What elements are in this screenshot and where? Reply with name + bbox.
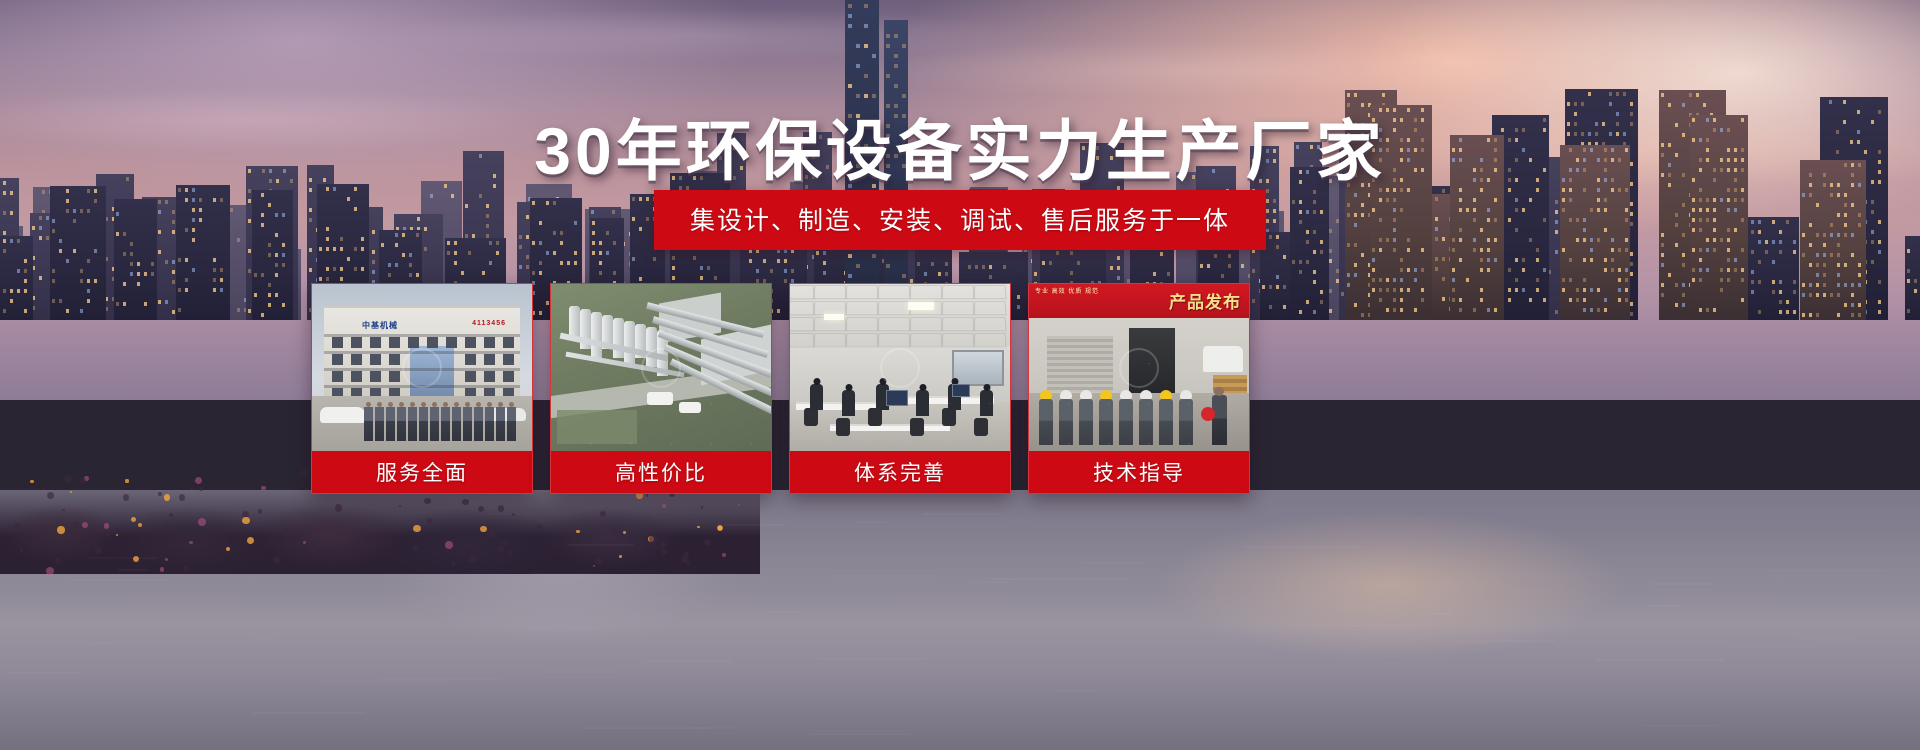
feature-card-label: 高性价比 <box>551 451 771 493</box>
watermark-logo-icon <box>402 348 442 388</box>
feature-card[interactable]: 高性价比 <box>550 283 772 494</box>
building-phone-text: 4113456 <box>472 320 506 327</box>
banner-subtitle: 集设计、制造、安装、调试、售后服务于一体 <box>690 201 1230 237</box>
feature-card-label: 服务全面 <box>312 451 532 493</box>
workshop-team-photo: 专业 高效 优质 规范 产品发布 <box>1029 284 1249 451</box>
feature-card-label: 体系完善 <box>790 451 1010 493</box>
banner-headline: 30年环保设备实力生产厂家 <box>0 98 1920 194</box>
feature-card-label: 技术指导 <box>1029 451 1249 493</box>
feature-card[interactable]: 中基机械 4113456 服务全面 <box>311 283 533 494</box>
company-headquarters-photo: 中基机械 4113456 <box>312 284 532 451</box>
feature-card-list: 中基机械 4113456 服务全面 <box>311 283 1250 494</box>
industrial-plant-aerial-photo <box>551 284 771 451</box>
workshop-side-slogan: 专业 高效 优质 规范 <box>1035 288 1099 297</box>
watermark-logo-icon <box>1119 348 1159 388</box>
hero-banner: 30年环保设备实力生产厂家 集设计、制造、安装、调试、售后服务于一体 中基机械 … <box>0 0 1920 750</box>
building-sign-text: 中基机械 <box>362 320 398 331</box>
banner-content: 30年环保设备实力生产厂家 集设计、制造、安装、调试、售后服务于一体 中基机械 … <box>0 0 1920 750</box>
watermark-logo-icon <box>641 348 681 388</box>
feature-card[interactable]: 专业 高效 优质 规范 产品发布 技术指导 <box>1028 283 1250 494</box>
feature-card[interactable]: 体系完善 <box>789 283 1011 494</box>
watermark-logo-icon <box>880 348 920 388</box>
office-interior-photo <box>790 284 1010 451</box>
workshop-banner-text: 产品发布 <box>1169 288 1241 313</box>
banner-subtitle-bar: 集设计、制造、安装、调试、售后服务于一体 <box>654 190 1266 250</box>
